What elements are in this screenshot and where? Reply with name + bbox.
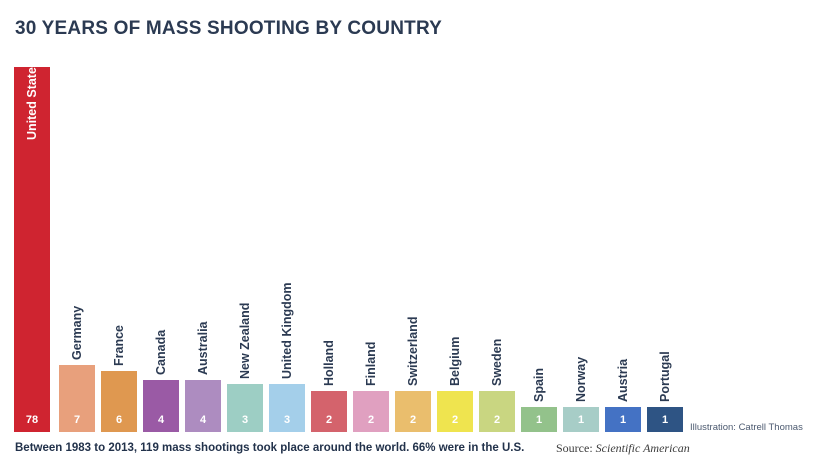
bar-category-label-text: United Kingdom [280, 282, 294, 379]
bar-category-label-text: New Zealand [238, 303, 252, 379]
bar-category-label-text: Switzerland [406, 317, 420, 386]
bar-category-label-text: Germany [70, 306, 84, 360]
bar-value-label: 2 [311, 414, 347, 426]
bar-value-label: 2 [479, 414, 515, 426]
bar-category-label-text: Australia [196, 322, 210, 376]
bar-value-label: 1 [521, 414, 557, 426]
bar-category-label-text: Canada [154, 330, 168, 375]
source-note: Source: Scientific American [556, 441, 690, 456]
bar-value-label: 1 [647, 414, 683, 426]
bar-value-label: 4 [185, 414, 221, 426]
illustration-credit: Illustration: Catrell Thomas [690, 422, 803, 433]
source-label: Source: [556, 441, 593, 455]
bar-value-label: 2 [395, 414, 431, 426]
bar-category-label-text: Belgium [448, 337, 462, 386]
footer-note: Between 1983 to 2013, 119 mass shootings… [15, 442, 524, 454]
bar-category-label-text: Finland [364, 342, 378, 386]
bar-category-label-text: Portugal [658, 351, 672, 402]
bar-value-label: 1 [563, 414, 599, 426]
page-title: 30 YEARS OF MASS SHOOTING BY COUNTRY [15, 18, 442, 40]
bar-category-label-text: Spain [532, 368, 546, 402]
bar-category-label-text: Austria [616, 359, 630, 402]
bar-value-label: 78 [14, 414, 50, 426]
bar-value-label: 7 [59, 414, 95, 426]
bar-category-label-text: Norway [574, 357, 588, 402]
bar-category-label-text: Holland [322, 340, 336, 386]
bar-value-label: 3 [227, 414, 263, 426]
bar-value-label: 4 [143, 414, 179, 426]
bar-chart-plot-area: 78United States7Germany6France4Canada4Au… [0, 60, 819, 432]
bar-value-label: 3 [269, 414, 305, 426]
bar-value-label: 2 [437, 414, 473, 426]
source-value: Scientific American [596, 441, 690, 455]
bar-value-label: 6 [101, 414, 137, 426]
bar-value-label: 1 [605, 414, 641, 426]
bar-category-label-text: Sweden [490, 339, 504, 386]
bar-category-label-text: United States [25, 60, 39, 140]
bar-category-label-text: France [112, 325, 126, 366]
bar-value-label: 2 [353, 414, 389, 426]
